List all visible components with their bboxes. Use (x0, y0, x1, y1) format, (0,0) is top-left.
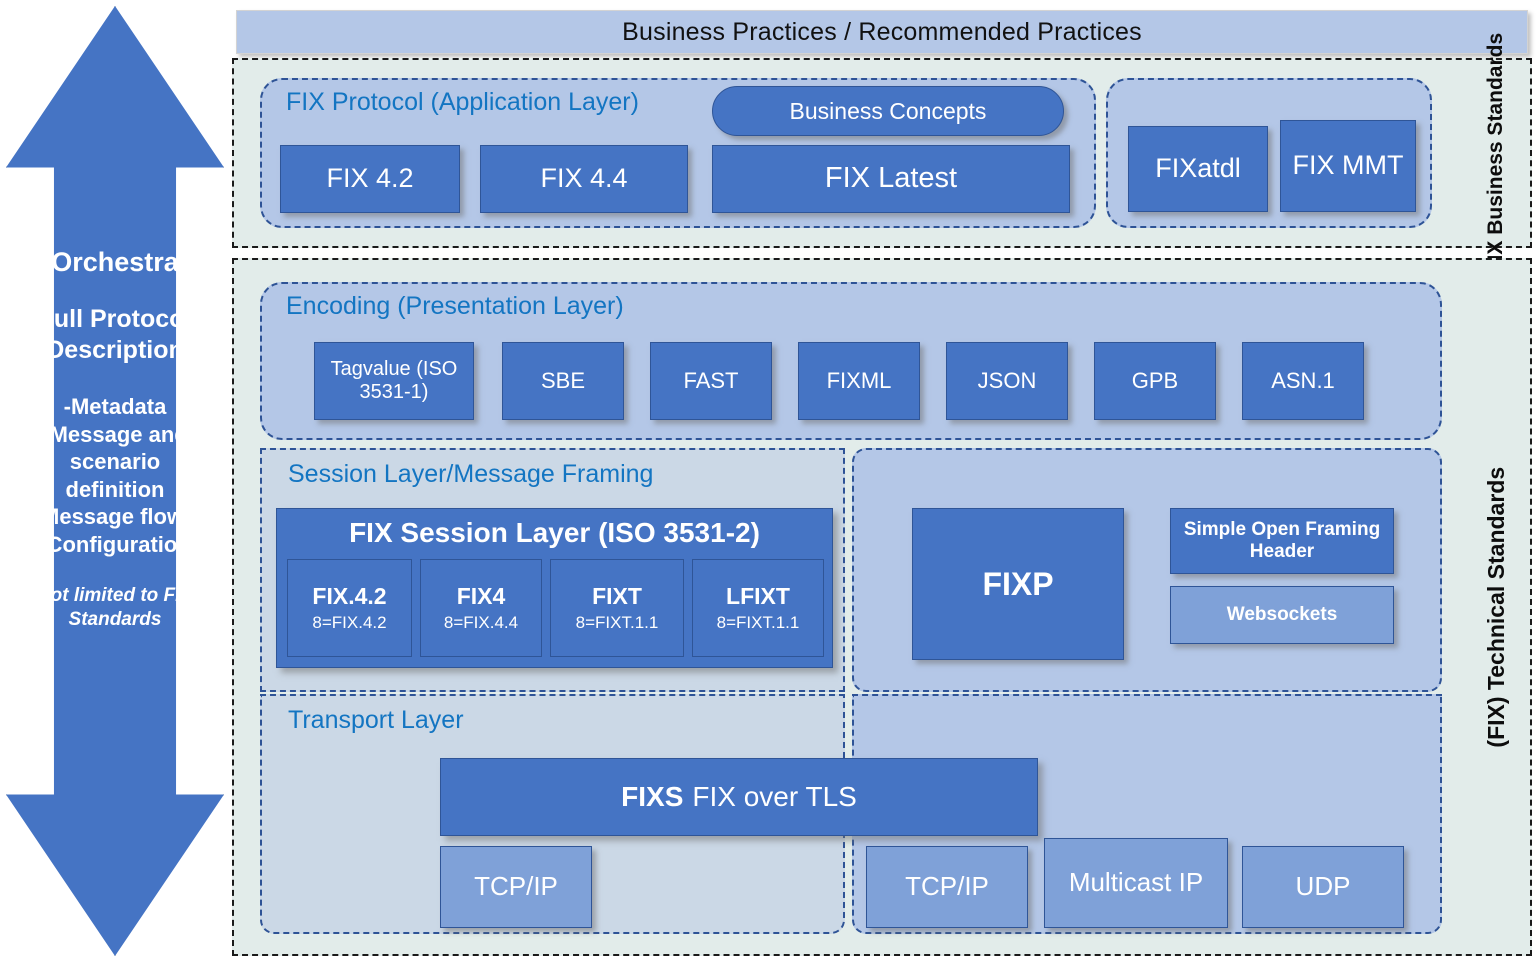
fix-business-standards-label: FIX Business Standards (1468, 60, 1524, 246)
session-item-value: 8=FIXT.1.1 (576, 612, 659, 634)
orchestra-note: Not limited to FIX Standards (20, 584, 210, 632)
session-item-value: 8=FIX.4.4 (444, 612, 518, 634)
box-gpb[interactable]: GPB (1094, 342, 1216, 420)
session-item-name: FIXT (592, 582, 642, 611)
box-json[interactable]: JSON (946, 342, 1068, 420)
box-multicast-ip[interactable]: Multicast IP (1044, 838, 1228, 928)
diagram-canvas: Orchestra Full Protocol Description -Met… (0, 0, 1536, 963)
encoding-title: Encoding (Presentation Layer) (286, 292, 624, 321)
business-practices-banner: Business Practices / Recommended Practic… (236, 10, 1528, 54)
application-layer-title: FIX Protocol (Application Layer) (286, 88, 639, 117)
fixs-rest-label: FIX over TLS (692, 781, 856, 813)
box-fix-4-2[interactable]: FIX 4.2 (280, 145, 460, 213)
box-tagvalue[interactable]: Tagvalue (ISO 3531-1) (314, 342, 474, 420)
orchestra-bullets: -Metadata -Message and scenario definiti… (20, 393, 210, 558)
box-fixs-fix-over-tls[interactable]: FIXS FIX over TLS (440, 758, 1038, 836)
box-websockets[interactable]: Websockets (1170, 586, 1394, 644)
fix-technical-standards-label-text: (FIX) Technical Standards (1483, 467, 1509, 748)
encoding-presentation-layer-group: Encoding (Presentation Layer) Tagvalue (… (260, 282, 1442, 440)
box-fix-mmt[interactable]: FIX MMT (1280, 120, 1416, 212)
box-udp[interactable]: UDP (1242, 846, 1404, 928)
box-fixatdl[interactable]: FIXatdl (1128, 126, 1268, 212)
box-tcp-ip-left[interactable]: TCP/IP (440, 846, 592, 928)
session-item-name: LFIXT (726, 582, 790, 611)
fix-business-standards-label-text: FIX Business Standards (1484, 33, 1508, 273)
orchestra-title: Orchestra (20, 246, 210, 278)
box-tcp-ip-right[interactable]: TCP/IP (866, 846, 1028, 928)
box-simple-open-framing-header[interactable]: Simple Open Framing Header (1170, 508, 1394, 574)
box-sbe[interactable]: SBE (502, 342, 624, 420)
fix-session-layer-title: FIX Session Layer (ISO 3531-2) (277, 517, 832, 549)
box-fix-4-4[interactable]: FIX 4.4 (480, 145, 688, 213)
box-fix-latest[interactable]: FIX Latest (712, 145, 1070, 213)
box-fix4-session[interactable]: FIX4 8=FIX.4.4 (420, 559, 542, 657)
fix-technical-standards-label: (FIX) Technical Standards (1468, 260, 1524, 954)
orchestra-arrow: Orchestra Full Protocol Description -Met… (6, 6, 224, 956)
box-fixml[interactable]: FIXML (798, 342, 920, 420)
box-fixt-session[interactable]: FIXT 8=FIXT.1.1 (550, 559, 684, 657)
box-fixp[interactable]: FIXP (912, 508, 1124, 660)
box-fast[interactable]: FAST (650, 342, 772, 420)
box-business-concepts[interactable]: Business Concepts (712, 86, 1064, 136)
fixs-bold-label: FIXS (621, 781, 683, 813)
fix-protocol-application-layer-group: FIX Protocol (Application Layer) FIX 4.2… (260, 78, 1096, 228)
session-item-name: FIX4 (457, 582, 506, 611)
session-layer-panel: Session Layer/Message Framing FIX Sessio… (260, 448, 845, 692)
fixp-panel: FIXP Simple Open Framing Header Websocke… (852, 448, 1442, 692)
box-lfixt-session[interactable]: LFIXT 8=FIXT.1.1 (692, 559, 824, 657)
orchestra-text-block: Orchestra Full Protocol Description -Met… (6, 246, 224, 632)
box-asn1[interactable]: ASN.1 (1242, 342, 1364, 420)
fix-session-layer-box[interactable]: FIX Session Layer (ISO 3531-2) FIX.4.2 8… (276, 508, 833, 668)
session-item-value: 8=FIXT.1.1 (717, 612, 800, 634)
session-item-name: FIX.4.2 (312, 582, 386, 611)
orchestra-subtitle: Full Protocol Description (20, 304, 210, 365)
session-item-value: 8=FIX.4.2 (312, 612, 386, 634)
box-fix-4-2-session[interactable]: FIX.4.2 8=FIX.4.2 (287, 559, 412, 657)
transport-layer-title: Transport Layer (288, 706, 464, 735)
fix-aux-standards-group: FIXatdl FIX MMT (1106, 78, 1432, 228)
session-layer-title: Session Layer/Message Framing (288, 460, 653, 489)
